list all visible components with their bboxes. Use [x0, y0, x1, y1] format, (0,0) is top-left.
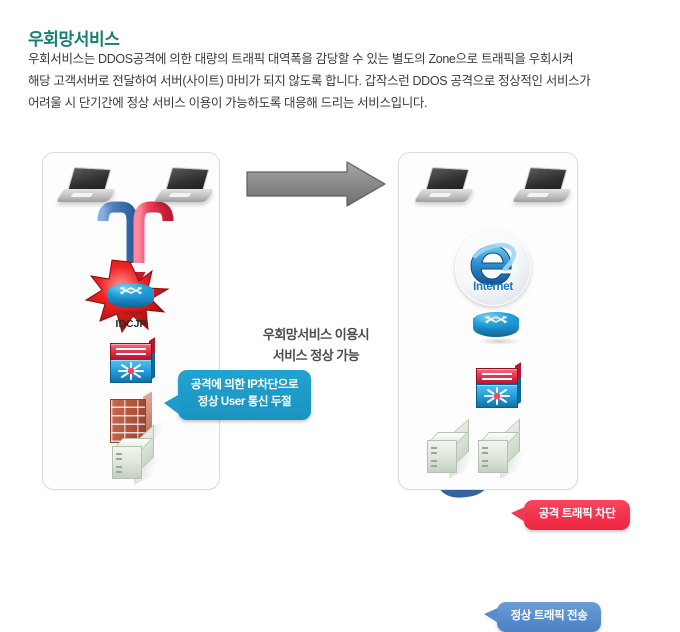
laptop-icon — [158, 168, 212, 206]
center-transition-block: 우회망서비스 이용시 서비스 정상 가능 — [240, 310, 392, 366]
server-front — [427, 440, 457, 473]
router-shadow — [477, 338, 521, 345]
ie-e-glyph — [455, 230, 531, 306]
intro-line-2: 해당 고객서버로 전달하여 서버(사이트) 마비가 되지 않도록 합니다. 갑작… — [28, 70, 652, 92]
internet-label: Internet — [455, 281, 531, 293]
callout-line-1: 공격에 의한 IP차단으로 — [188, 377, 301, 394]
intro-line-1: 우회서비스는 DDOS공격에 의한 대량의 트래픽 대역폭을 감당할 수 있는 … — [28, 48, 652, 70]
router-icon — [473, 312, 519, 342]
router-shadow — [112, 309, 156, 316]
switch-lower-unit — [110, 359, 152, 383]
laptop-trackpad — [429, 193, 451, 197]
laptop-icon — [516, 168, 570, 206]
callout-tail — [484, 608, 498, 623]
attack-traffic-blocked-callout: 공격 트래픽 차단 — [524, 500, 630, 530]
center-caption-line-2: 서비스 정상 가능 — [240, 345, 392, 366]
switch-lower-unit — [476, 384, 518, 408]
laptop-trackpad — [71, 193, 93, 197]
attack-ip-block-callout: 공격에 의한 IP차단으로 정상 User 통신 두절 — [178, 370, 311, 420]
callout-line-2: 정상 User 통신 두절 — [188, 394, 301, 411]
callout-tail — [164, 394, 180, 415]
switch-icon — [110, 343, 154, 383]
switch-icon — [476, 368, 520, 408]
callout-line-1: 공격 트래픽 차단 — [534, 506, 620, 523]
intro-line-3: 어려울 시 단기간에 정상 서비스 이용이 가능하도록 대응해 드리는 서비스입… — [28, 92, 652, 114]
server-icon — [112, 438, 156, 478]
laptop-trackpad — [169, 193, 191, 197]
intro-paragraph: 우회서비스는 DDOS공격에 의한 대량의 트래픽 대역폭을 감당할 수 있는 … — [28, 48, 652, 114]
right-arrow-icon — [247, 162, 385, 206]
router-arrow-glyphs — [108, 284, 154, 298]
laptop-icon — [60, 168, 114, 206]
normal-traffic-delivered-callout: 정상 트래픽 전송 — [497, 602, 601, 632]
server-front — [478, 440, 508, 473]
laptop-icon — [418, 168, 472, 206]
router-icon — [108, 283, 154, 313]
laptop-trackpad — [527, 193, 549, 197]
router-arrow-glyphs — [473, 313, 519, 327]
server-icon — [478, 432, 522, 472]
server-front — [112, 446, 142, 479]
server-icon — [427, 432, 471, 472]
callout-tail — [511, 507, 525, 522]
service-diagram: IDCJP — [0, 140, 680, 525]
page-title: 우회망서비스 — [28, 25, 119, 50]
internet-globe-icon: Internet — [455, 230, 531, 306]
switch-star-glyph — [111, 360, 151, 382]
center-caption-line-1: 우회망서비스 이용시 — [240, 324, 392, 345]
switch-star-glyph — [477, 385, 517, 407]
router-label: IDCJP — [105, 318, 157, 330]
center-caption: 우회망서비스 이용시 서비스 정상 가능 — [240, 324, 392, 366]
callout-line-1: 정상 트래픽 전송 — [507, 608, 591, 625]
